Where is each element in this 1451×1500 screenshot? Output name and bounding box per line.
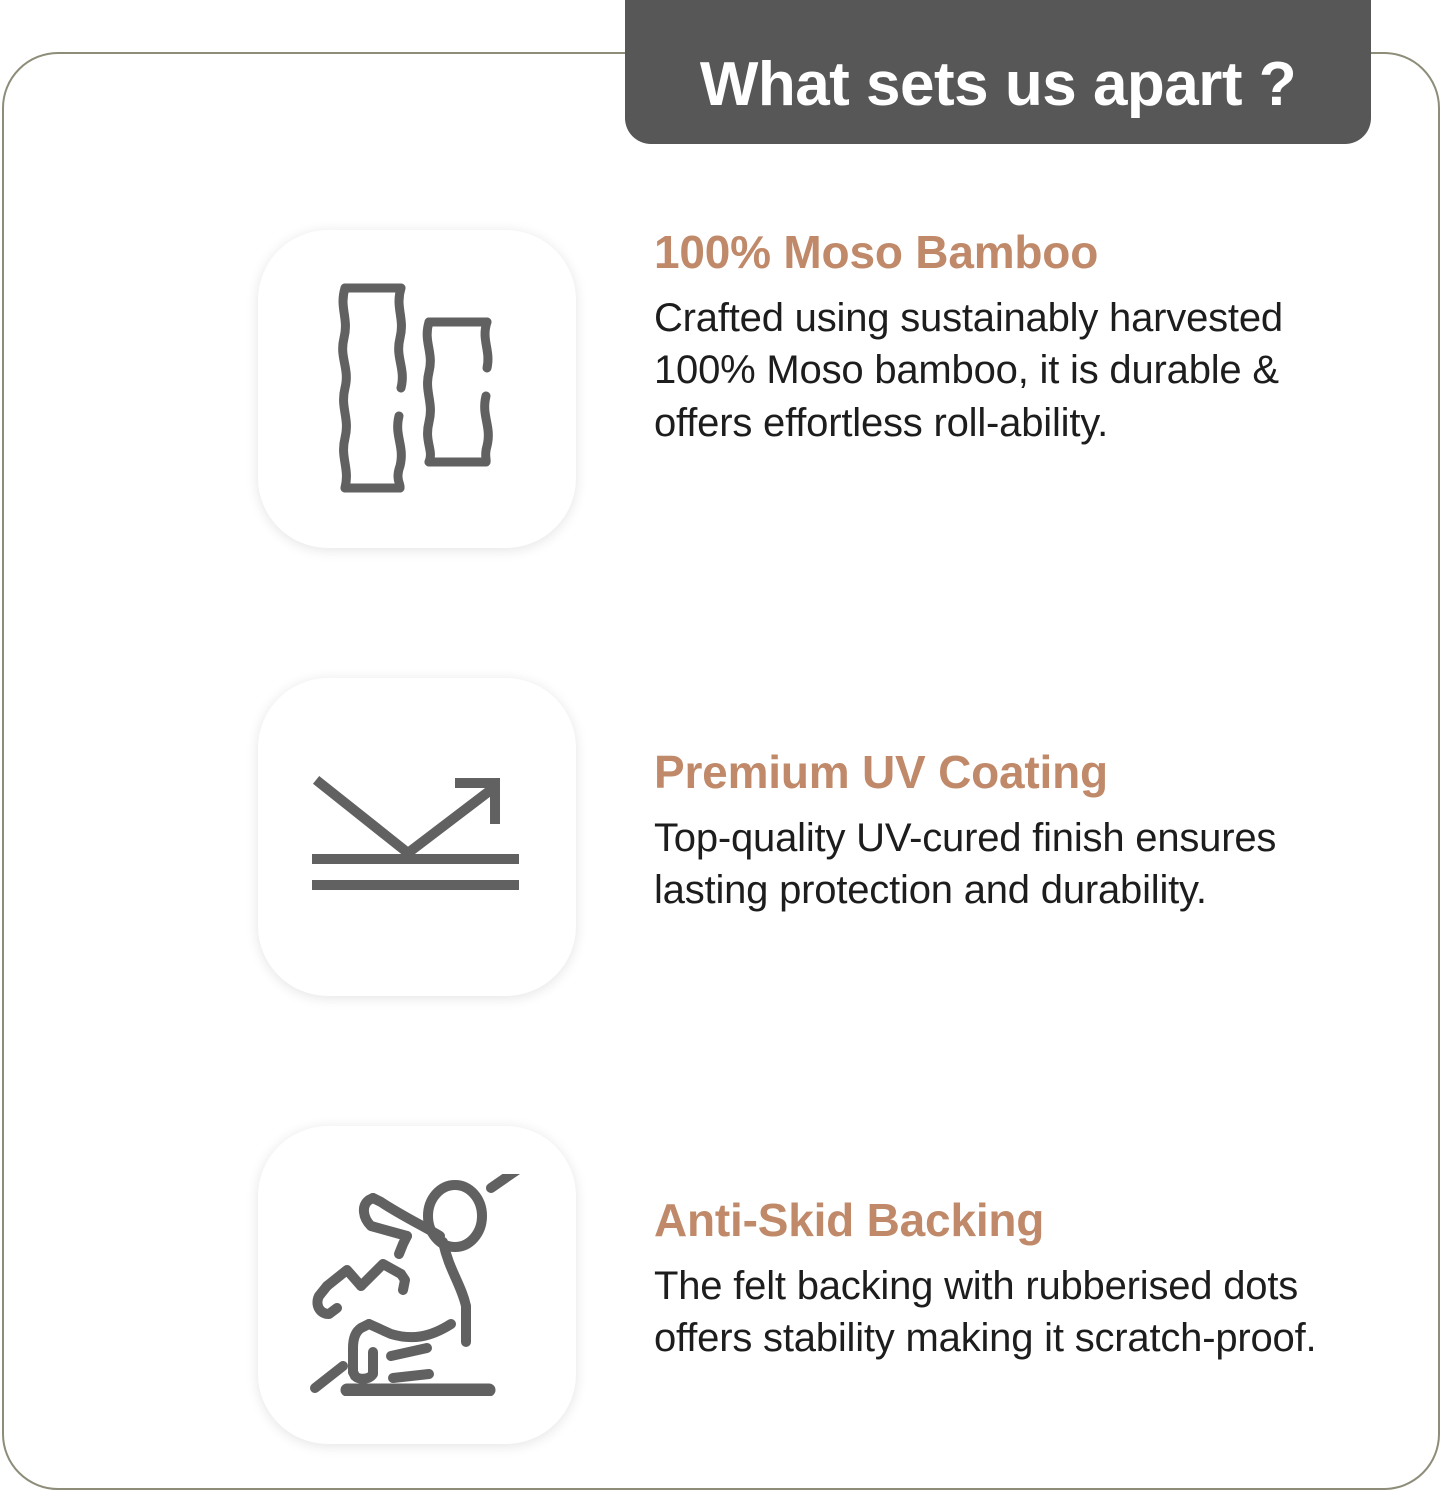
feature-title: Anti-Skid Backing bbox=[654, 1196, 1356, 1246]
icon-tile-uv-coating bbox=[258, 678, 576, 996]
feature-description: Crafted using sustainably harvested 100%… bbox=[654, 292, 1356, 450]
bamboo-stalks-icon bbox=[317, 274, 517, 504]
feature-text-bamboo: 100% Moso Bamboo Crafted using sustainab… bbox=[576, 180, 1451, 450]
feature-description: Top-quality UV-cured finish ensures last… bbox=[654, 812, 1356, 918]
feature-item-anti-skid: Anti-Skid Backing The felt backing with … bbox=[0, 1076, 1451, 1444]
feature-item-uv-coating: Premium UV Coating Top-quality UV-cured … bbox=[0, 628, 1451, 996]
icon-tile-bamboo bbox=[258, 230, 576, 548]
feature-description: The felt backing with rubberised dots of… bbox=[654, 1260, 1356, 1366]
slipping-person-icon bbox=[303, 1174, 531, 1396]
header-banner: What sets us apart ? bbox=[625, 0, 1371, 144]
feature-title: Premium UV Coating bbox=[654, 748, 1356, 798]
page-title: What sets us apart ? bbox=[700, 54, 1296, 116]
icon-tile-anti-skid bbox=[258, 1126, 576, 1444]
feature-list: 100% Moso Bamboo Crafted using sustainab… bbox=[0, 180, 1451, 1444]
feature-title: 100% Moso Bamboo bbox=[654, 228, 1356, 278]
feature-item-bamboo: 100% Moso Bamboo Crafted using sustainab… bbox=[0, 180, 1451, 548]
feature-text-anti-skid: Anti-Skid Backing The felt backing with … bbox=[576, 1076, 1451, 1365]
uv-reflection-icon bbox=[312, 775, 522, 900]
feature-text-uv-coating: Premium UV Coating Top-quality UV-cured … bbox=[576, 628, 1451, 917]
